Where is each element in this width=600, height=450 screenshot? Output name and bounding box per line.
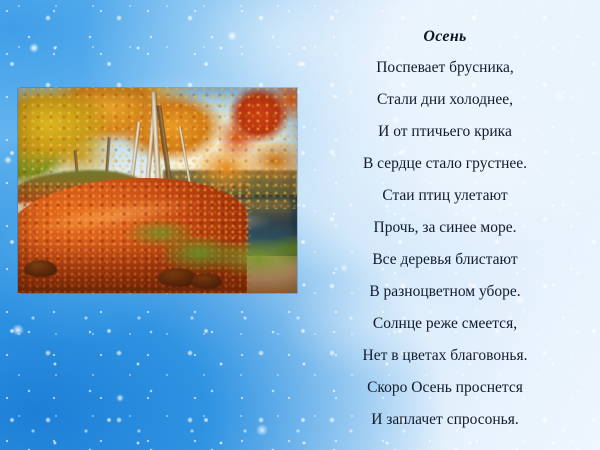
poem-line: И от птичьего крика [300,116,590,148]
poem-line: Все деревья блистают [300,244,590,276]
poem-body: Поспевает брусника, Стали дни холоднее, … [300,52,590,436]
slide: Осень Поспевает брусника, Стали дни холо… [0,0,600,450]
poem-title: Осень [300,27,590,47]
poem-block: Осень Поспевает брусника, Стали дни холо… [300,0,590,436]
poem-line: И заплачет спросонья. [300,404,590,436]
poem-line: Стали дни холоднее, [300,84,590,116]
autumn-landscape-photo [18,88,297,293]
poem-line: Солнце реже смеется, [300,308,590,340]
poem-line: В разноцветном уборе. [300,276,590,308]
poem-line: Поспевает брусника, [300,52,590,84]
photo-vignette [18,88,297,293]
poem-line: В сердце стало грустнее. [300,148,590,180]
poem-line: Стаи птиц улетают [300,180,590,212]
poem-line: Прочь, за синее море. [300,212,590,244]
poem-line: Нет в цветах благовонья. [300,340,590,372]
poem-line: Скоро Осень проснется [300,372,590,404]
